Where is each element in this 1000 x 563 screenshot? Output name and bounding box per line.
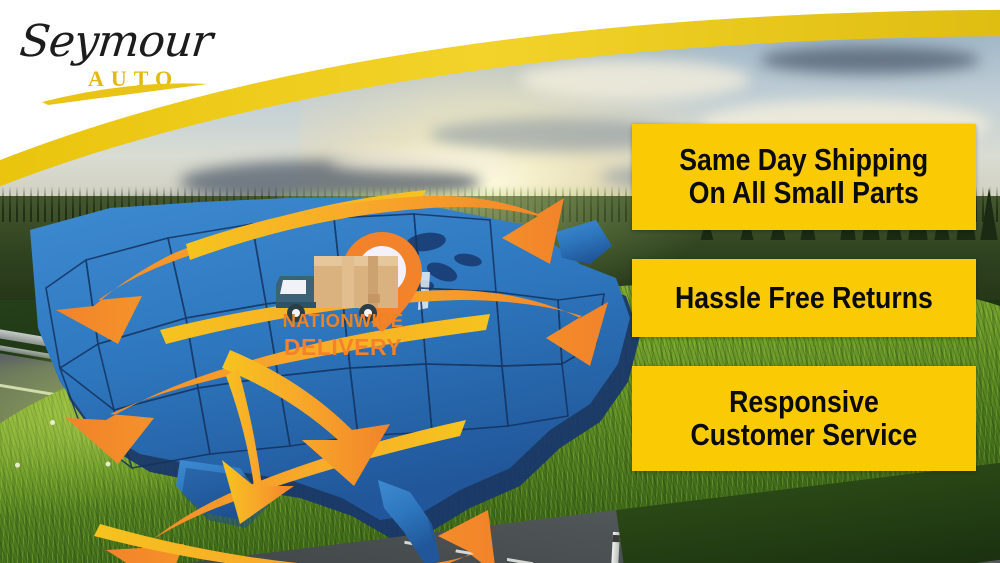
promo-1-line-2: On All Small Parts bbox=[689, 177, 919, 210]
badge-line-1: NATIONWIDE bbox=[258, 312, 428, 331]
promo-1-line-1: Same Day Shipping bbox=[680, 144, 929, 177]
brand-logo[interactable]: Seymour AUTO bbox=[14, 14, 204, 100]
badge-line-2: DELIVERY bbox=[258, 336, 428, 359]
map-northeast bbox=[556, 220, 612, 264]
promo-3-line-2: Customer Service bbox=[691, 419, 918, 452]
promo-responsive-customer-service[interactable]: Responsive Customer Service bbox=[632, 366, 976, 471]
promo-same-day-shipping[interactable]: Same Day Shipping On All Small Parts bbox=[632, 124, 976, 230]
promo-hassle-free-returns[interactable]: Hassle Free Returns bbox=[632, 259, 976, 337]
promo-3-line-1: Responsive bbox=[729, 386, 879, 419]
logo-swoosh-icon bbox=[38, 78, 228, 108]
nationwide-delivery-badge: NATIONWIDE DELIVERY bbox=[258, 228, 428, 378]
logo-script-text: Seymour bbox=[17, 16, 214, 67]
promo-2-line-1: Hassle Free Returns bbox=[675, 282, 933, 315]
promo-banner: Seymour AUTO bbox=[0, 0, 1000, 563]
